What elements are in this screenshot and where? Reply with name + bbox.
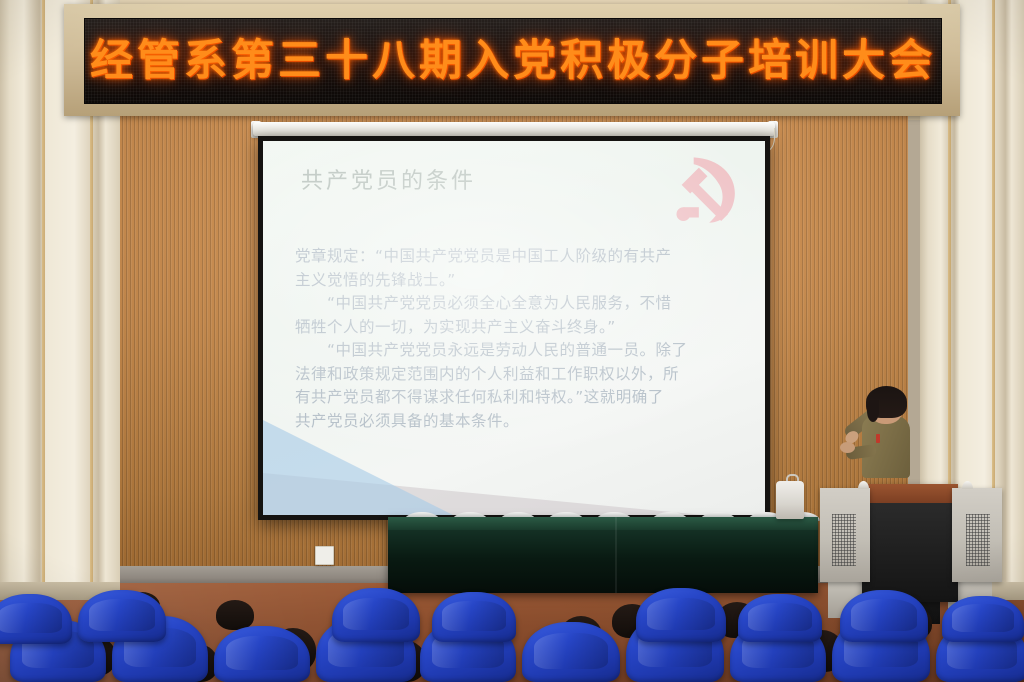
presenter-badge [876,434,880,443]
chair-cover-fold [952,604,1014,632]
chair-cover-fold [534,633,608,669]
presenter-hair-side [867,400,879,422]
chair-cover-fold [748,603,812,632]
presenter [836,386,924,490]
led-banner: 经管系第三十八期入党积极分子培训大会 [84,18,942,104]
audience-chair [78,590,166,642]
chair-cover-fold [89,599,156,630]
audience-head [216,600,254,630]
slide-body-line: 法律和政策规定范围内的个人利益和工作职权以外，所 [295,363,741,387]
slide-surface: 共产党员的条件 党章规定：“中国共产党党员是中国工人阶级的有共产 主义觉悟的先锋… [263,141,765,515]
podium-wood-top [862,484,958,503]
audience-chair [0,594,72,644]
slide-body-line: “中国共产党党员永远是劳动人民的普通一员。除了 [295,339,741,363]
audience-chair [942,596,1024,642]
speaker-grille-right [966,514,990,566]
audience-chair [432,592,516,642]
chair-cover-fold [851,599,918,630]
white-bag-on-table [776,481,804,519]
slide-body-line: “中国共产党党员必须全心全意为人民服务，不惜 [295,292,741,316]
audience-chair [214,626,310,682]
audience-chair [522,622,620,682]
audience-chair [636,588,726,642]
screen-roller-housing [253,122,775,136]
slide-body-line: 主义觉悟的先锋战士。” [295,269,741,293]
wall-outlet-plate [315,546,334,565]
chair-cover-fold [343,598,410,630]
podium-speaker-right [952,488,1002,582]
slide-body-line: 共产党员必须具备的基本条件。 [295,410,741,434]
audience-chair [840,590,928,642]
slide-body-line: 有共产党员都不得谋求任何私利和特权。”这就明确了 [295,386,741,410]
projector-screen: 共产党员的条件 党章规定：“中国共产党党员是中国工人阶级的有共产 主义觉悟的先锋… [258,136,770,520]
chair-cover-fold [442,601,506,631]
slide-title: 共产党员的条件 [301,163,476,195]
speaker-grille-left [832,514,856,566]
head-table-top [388,517,818,530]
slide-decoration-blue [263,420,453,515]
chair-cover-fold [226,636,299,670]
banner-text: 经管系第三十八期入党积极分子培训大会 [90,40,936,83]
slide-body-line: 党章规定：“中国共产党党员是中国工人阶级的有共产 [295,245,741,269]
hammer-and-sickle-emblem [661,147,747,233]
audience-chair [738,594,822,642]
slide-body: 党章规定：“中国共产党党员是中国工人阶级的有共产 主义觉悟的先锋战士。” “中国… [295,245,741,433]
chair-cover-fold [647,598,715,630]
slide-body-line: 牺牲个人的一切，为实现共产主义奋斗终身。” [295,316,741,340]
head-table-seam [615,517,617,593]
audience-chair [332,588,420,642]
podium-speaker-left [820,488,870,582]
presenter-lower-hand [840,442,855,453]
chair-cover-fold [0,603,62,633]
auditorium-scene: 经管系第三十八期入党积极分子培训大会 共产党员的条件 党章规定：“中国共产党党员… [0,0,1024,682]
audience-seating [0,586,1024,682]
